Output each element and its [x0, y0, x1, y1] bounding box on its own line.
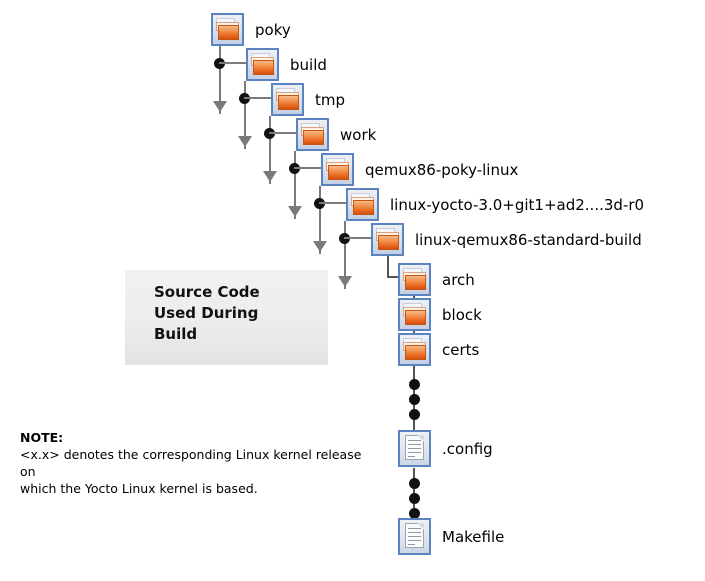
- ellipsis-dot-1: [409, 379, 420, 390]
- connector-arrow-poky: [213, 101, 227, 112]
- connector-branch-qemux86: [319, 202, 346, 204]
- note-title: NOTE:: [20, 430, 380, 446]
- file-icon: [398, 518, 431, 555]
- ellipsis-dot-4: [409, 478, 420, 489]
- ellipsis-dot-2: [409, 394, 420, 405]
- note-block: NOTE: <x.x> denotes the corresponding Li…: [20, 430, 380, 497]
- folder-icon: [296, 118, 329, 151]
- tree-node-label: block: [442, 306, 482, 324]
- folder-icon: [398, 333, 431, 366]
- directory-tree-diagram: poky build tmp: [0, 0, 705, 581]
- connector-arrow-work: [288, 206, 302, 217]
- source-code-callout-box: Source Code Used During Build: [125, 270, 328, 365]
- connector-branch-tmp: [269, 132, 296, 134]
- connector-arrow-tmp: [263, 171, 277, 182]
- ellipsis-dot-3: [409, 409, 420, 420]
- connector-branch-build: [244, 97, 271, 99]
- tree-node-label: work: [340, 126, 376, 144]
- connector-branch-work: [294, 167, 321, 169]
- file-icon: [398, 430, 431, 467]
- tree-node-label: tmp: [315, 91, 345, 109]
- callout-text: Source Code Used During Build: [154, 282, 260, 345]
- tree-node-label: Makefile: [442, 528, 504, 546]
- connector-arrow-qemux86: [313, 241, 327, 252]
- tree-node-label: certs: [442, 341, 479, 359]
- ellipsis-dot-5: [409, 493, 420, 504]
- connector-arrow-linuxyocto: [338, 276, 352, 287]
- connector-arrow-build: [238, 136, 252, 147]
- tree-node-label: poky: [255, 21, 291, 39]
- connector-branch-linuxyocto: [344, 237, 371, 239]
- folder-icon: [398, 263, 431, 296]
- folder-icon: [271, 83, 304, 116]
- note-body: <x.x> denotes the corresponding Linux ke…: [20, 446, 380, 497]
- folder-icon: [246, 48, 279, 81]
- tree-node-label: linux-qemux86-standard-build: [415, 231, 642, 249]
- folder-icon: [211, 13, 244, 46]
- tree-node-label: .config: [442, 440, 493, 458]
- connector-line-standardbuild: [387, 256, 389, 278]
- tree-node-label: qemux86-poky-linux: [365, 161, 518, 179]
- tree-node-label: linux-yocto-3.0+git1+ad2....3d-r0: [390, 196, 644, 214]
- tree-node-label: build: [290, 56, 327, 74]
- connector-branch-poky: [219, 62, 246, 64]
- folder-icon: [321, 153, 354, 186]
- folder-icon: [398, 298, 431, 331]
- folder-icon: [346, 188, 379, 221]
- tree-node-label: arch: [442, 271, 475, 289]
- folder-icon: [371, 223, 404, 256]
